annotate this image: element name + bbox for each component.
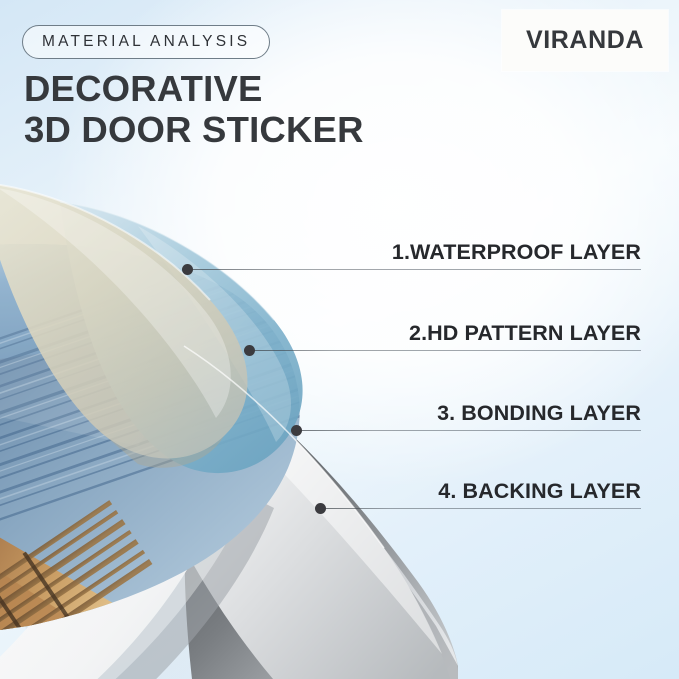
callout-leader-line (249, 350, 641, 351)
callout-label: 1.WATERPROOF LAYER (392, 240, 641, 265)
eyebrow-label: MATERIAL ANALYSIS (42, 33, 250, 51)
callout-label: 4. BACKING LAYER (438, 479, 641, 504)
callout-label: 3. BONDING LAYER (437, 401, 641, 426)
callout-label: 2.HD PATTERN LAYER (409, 321, 641, 346)
callout-dot (291, 425, 302, 436)
callout-leader-line (296, 430, 641, 431)
callout-dot (244, 345, 255, 356)
page-title: DECORATIVE 3D DOOR STICKER (24, 68, 454, 150)
callout-leader-line (320, 508, 641, 509)
brand-logo: VIRANDA (502, 10, 668, 71)
callout-leader-line (187, 269, 641, 270)
poster-canvas: MATERIAL ANALYSIS DECORATIVE 3D DOOR STI… (0, 0, 679, 679)
callout-dot (182, 264, 193, 275)
eyebrow-badge: MATERIAL ANALYSIS (22, 25, 270, 59)
callout-dot (315, 503, 326, 514)
brand-logo-text: VIRANDA (526, 26, 644, 55)
